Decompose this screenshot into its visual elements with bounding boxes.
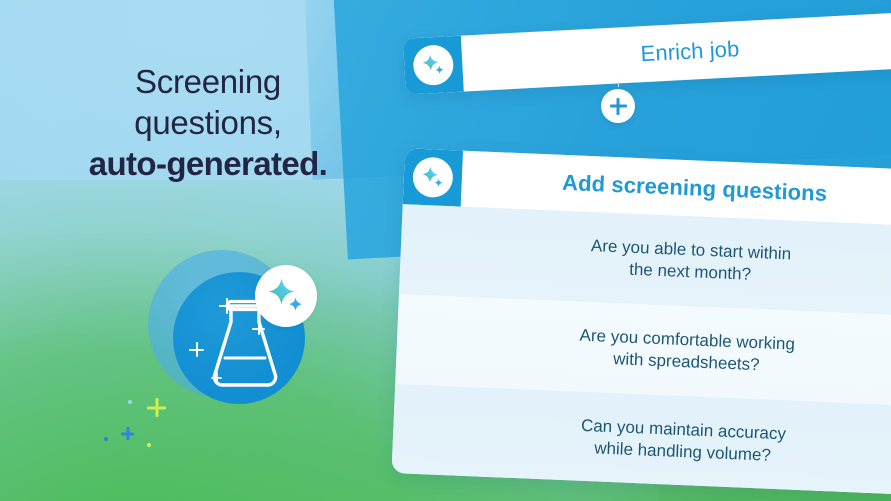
decor-dot bbox=[128, 400, 132, 404]
decor-dot bbox=[147, 443, 151, 447]
questions-card-badge bbox=[403, 148, 463, 206]
decor-dot bbox=[104, 437, 108, 441]
decor-plus-icon bbox=[121, 427, 134, 440]
headline-line-1: Screening bbox=[28, 62, 388, 103]
badge-circle bbox=[412, 157, 454, 199]
sparkle-cross-icon bbox=[189, 342, 204, 357]
sparkle-cross-icon bbox=[211, 372, 222, 383]
enrich-card-badge bbox=[403, 36, 464, 95]
card-connector bbox=[617, 78, 621, 118]
questions-title-part-1: Add screening bbox=[562, 170, 717, 201]
question-list: Are you able to start within the next mo… bbox=[391, 204, 891, 497]
plus-icon bbox=[610, 98, 627, 115]
badge-circle bbox=[412, 44, 454, 86]
sparkle-cross-icon bbox=[219, 298, 235, 314]
headline-line-2: questions, bbox=[28, 103, 388, 144]
sparkle-icon bbox=[419, 164, 446, 191]
add-step-button[interactable] bbox=[601, 89, 635, 123]
flask-illustration bbox=[148, 250, 328, 420]
headline-line-3: auto-generated. bbox=[28, 144, 388, 185]
screening-questions-card[interactable]: Add screening questions Are you able to … bbox=[391, 148, 891, 497]
questions-title-part-2: questions bbox=[716, 176, 828, 206]
promo-graphic: Screening questions, auto-generated. bbox=[0, 0, 891, 501]
sparkle-icon bbox=[265, 275, 307, 317]
sparkle-badge bbox=[255, 265, 317, 327]
enrich-card-title: Enrich job bbox=[462, 24, 891, 76]
questions-card-title: Add screening questions bbox=[461, 166, 891, 213]
page-title: Screening questions, auto-generated. bbox=[28, 62, 388, 185]
decor-plus-icon bbox=[147, 398, 166, 417]
sparkle-cross-icon bbox=[252, 322, 265, 335]
sparkle-icon bbox=[420, 51, 447, 78]
